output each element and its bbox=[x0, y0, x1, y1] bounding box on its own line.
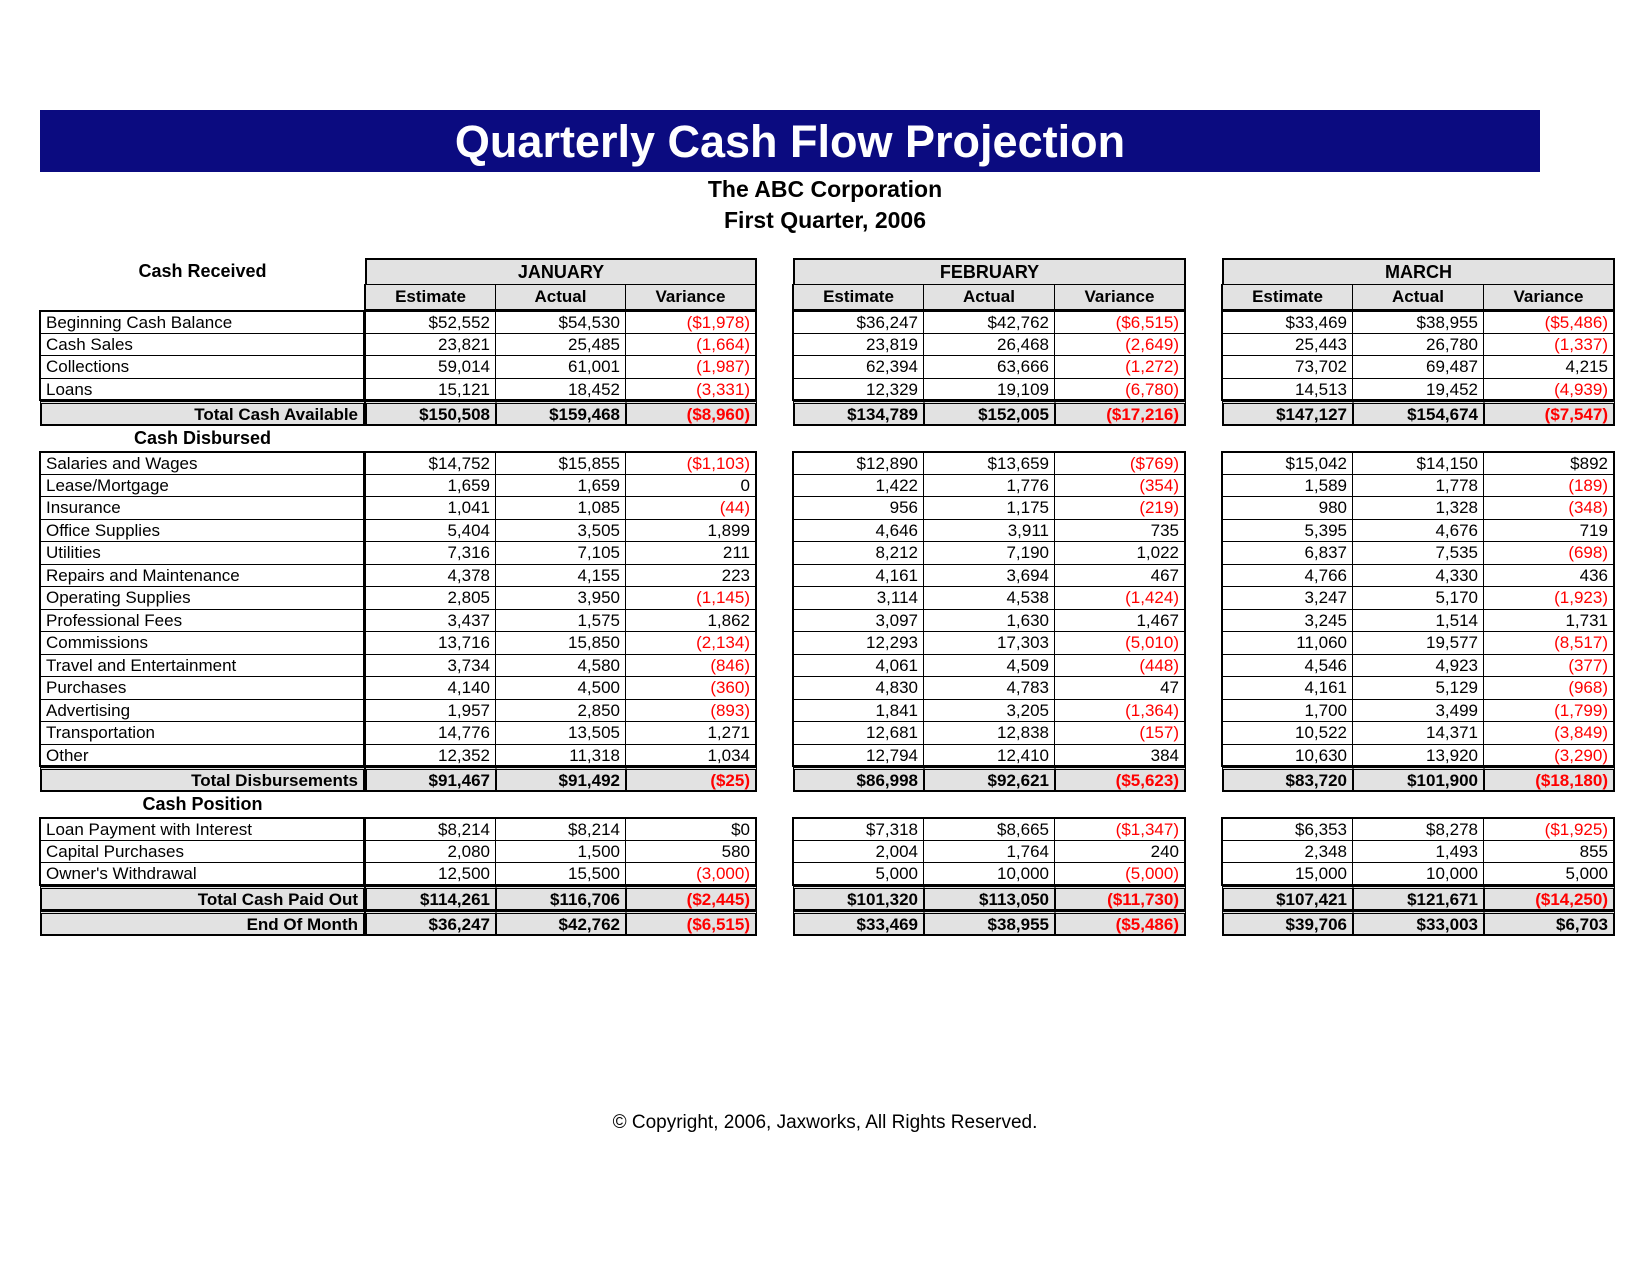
cell-value: $8,214 bbox=[495, 817, 626, 841]
cell-value: 12,352 bbox=[364, 744, 496, 768]
cell-value: (1,272) bbox=[1054, 355, 1186, 379]
cell-value: 19,577 bbox=[1352, 631, 1484, 655]
end-of-month-value: $38,955 bbox=[924, 911, 1055, 936]
end-of-month-value: $39,706 bbox=[1222, 911, 1353, 936]
row-label-spacer bbox=[40, 285, 365, 311]
row-label: Loans bbox=[39, 378, 365, 402]
cell-value: 4,646 bbox=[792, 519, 924, 543]
section-gap bbox=[496, 426, 626, 452]
cell-value: 384 bbox=[1054, 744, 1186, 768]
cell-value: 735 bbox=[1054, 519, 1186, 543]
cell-value: 7,316 bbox=[364, 541, 496, 565]
cell-value: (1,664) bbox=[625, 333, 757, 357]
cell-value: 17,303 bbox=[923, 631, 1055, 655]
total-cash-available-value: ($17,216) bbox=[1055, 401, 1186, 426]
month-gap-r-0 bbox=[757, 722, 793, 745]
section-gap bbox=[924, 792, 1055, 818]
row-label: Office Supplies bbox=[39, 519, 365, 543]
month-gap-r-1 bbox=[1186, 818, 1222, 841]
section-gap bbox=[1222, 792, 1353, 818]
cell-value: (1,923) bbox=[1483, 586, 1615, 610]
cell-value: 12,681 bbox=[792, 721, 924, 745]
cell-value: 5,404 bbox=[364, 519, 496, 543]
cell-value: 4,766 bbox=[1221, 564, 1353, 588]
section-gap bbox=[1055, 426, 1186, 452]
month-gap-r-1 bbox=[1186, 745, 1222, 768]
cell-value: (4,939) bbox=[1483, 378, 1615, 402]
month-gap-r-0 bbox=[757, 379, 793, 402]
month-gap-t-1 bbox=[1186, 767, 1222, 792]
cell-value: (157) bbox=[1054, 721, 1186, 745]
total-cash-paid-out-value: ($14,250) bbox=[1484, 886, 1615, 911]
cell-value: 14,776 bbox=[364, 721, 496, 745]
row-label: Transportation bbox=[39, 721, 365, 745]
total-cash-available-value: ($8,960) bbox=[626, 401, 757, 426]
total-cash-available-value: $134,789 bbox=[793, 401, 924, 426]
cell-value: (348) bbox=[1483, 496, 1615, 520]
end-of-month-value: $33,469 bbox=[793, 911, 924, 936]
col-header-march-estimate: Estimate bbox=[1221, 284, 1353, 310]
cell-value: 12,293 bbox=[792, 631, 924, 655]
cell-value: 2,004 bbox=[792, 840, 924, 864]
cell-value: 4,783 bbox=[923, 676, 1055, 700]
cell-value: 3,437 bbox=[364, 609, 496, 633]
month-gap-r-1 bbox=[1186, 379, 1222, 402]
cell-value: 956 bbox=[792, 496, 924, 520]
cell-value: 1,422 bbox=[792, 474, 924, 498]
cell-value: 1,957 bbox=[364, 699, 496, 723]
row-label: Capital Purchases bbox=[39, 840, 365, 864]
cell-value: 3,734 bbox=[364, 654, 496, 678]
cell-value: 23,819 bbox=[792, 333, 924, 357]
cell-value: (3,000) bbox=[625, 862, 757, 886]
month-gap-r-1 bbox=[1186, 587, 1222, 610]
cell-value: 1,271 bbox=[625, 721, 757, 745]
cell-value: $54,530 bbox=[495, 310, 626, 334]
cell-value: 1,841 bbox=[792, 699, 924, 723]
total-disbursements-value: ($25) bbox=[626, 767, 757, 792]
cell-value: (5,000) bbox=[1054, 862, 1186, 886]
cell-value: 2,805 bbox=[364, 586, 496, 610]
row-label: Insurance bbox=[39, 496, 365, 520]
section-gap bbox=[1353, 426, 1484, 452]
month-header-january: JANUARY bbox=[365, 258, 757, 285]
cell-value: $8,278 bbox=[1352, 817, 1484, 841]
cell-value: (1,337) bbox=[1483, 333, 1615, 357]
month-gap-r-1 bbox=[1186, 722, 1222, 745]
total-cash-paid-out-label: Total Cash Paid Out bbox=[40, 886, 365, 911]
cell-value: 3,247 bbox=[1221, 586, 1353, 610]
end-of-month-value: $6,703 bbox=[1484, 911, 1615, 936]
section-gap bbox=[793, 792, 924, 818]
month-gap-r-1 bbox=[1186, 475, 1222, 498]
cell-value: ($1,103) bbox=[625, 451, 757, 475]
cell-value: $38,955 bbox=[1352, 310, 1484, 334]
cell-value: 1,175 bbox=[923, 496, 1055, 520]
cell-value: 980 bbox=[1221, 496, 1353, 520]
cell-value: $52,552 bbox=[364, 310, 496, 334]
cell-value: 4,378 bbox=[364, 564, 496, 588]
cell-value: 855 bbox=[1483, 840, 1615, 864]
month-gap-r-1 bbox=[1186, 311, 1222, 334]
cell-value: 4,061 bbox=[792, 654, 924, 678]
cell-value: 4,161 bbox=[792, 564, 924, 588]
cell-value: 12,838 bbox=[923, 721, 1055, 745]
month-gap-r-0 bbox=[757, 587, 793, 610]
cell-value: 3,911 bbox=[923, 519, 1055, 543]
cell-value: 26,468 bbox=[923, 333, 1055, 357]
cell-value: 7,190 bbox=[923, 541, 1055, 565]
cell-value: (968) bbox=[1483, 676, 1615, 700]
end-of-month-label: End Of Month bbox=[40, 911, 365, 936]
month-gap-t-0 bbox=[757, 911, 793, 936]
month-gap-r-1 bbox=[1186, 565, 1222, 588]
cell-value: 436 bbox=[1483, 564, 1615, 588]
cell-value: 3,499 bbox=[1352, 699, 1484, 723]
end-of-month-value: ($6,515) bbox=[626, 911, 757, 936]
month-gap-r-0 bbox=[757, 452, 793, 475]
cell-value: $6,353 bbox=[1221, 817, 1353, 841]
report-period: First Quarter, 2006 bbox=[0, 207, 1650, 234]
row-label: Lease/Mortgage bbox=[39, 474, 365, 498]
cell-value: 26,780 bbox=[1352, 333, 1484, 357]
cell-value: ($6,515) bbox=[1054, 310, 1186, 334]
cell-value: ($769) bbox=[1054, 451, 1186, 475]
row-label: Other bbox=[39, 744, 365, 768]
end-of-month-value: ($5,486) bbox=[1055, 911, 1186, 936]
cell-value: 12,500 bbox=[364, 862, 496, 886]
section-title-cash-position: Cash Position bbox=[40, 792, 365, 818]
cell-value: $14,150 bbox=[1352, 451, 1484, 475]
cell-value: 4,161 bbox=[1221, 676, 1353, 700]
total-cash-paid-out-value: $107,421 bbox=[1222, 886, 1353, 911]
cell-value: ($1,925) bbox=[1483, 817, 1615, 841]
cell-value: 1,764 bbox=[923, 840, 1055, 864]
month-gap-r-0 bbox=[757, 655, 793, 678]
cell-value: $33,469 bbox=[1221, 310, 1353, 334]
end-of-month-value: $36,247 bbox=[365, 911, 496, 936]
section-gap bbox=[1186, 792, 1222, 818]
cell-value: 211 bbox=[625, 541, 757, 565]
cell-value: 240 bbox=[1054, 840, 1186, 864]
cell-value: (1,145) bbox=[625, 586, 757, 610]
month-gap-0 bbox=[757, 258, 793, 285]
total-cash-available-value: $154,674 bbox=[1353, 401, 1484, 426]
section-gap bbox=[757, 792, 793, 818]
spreadsheet-table: Cash ReceivedJANUARYFEBRUARYMARCHEstimat… bbox=[40, 258, 1540, 936]
cell-value: (846) bbox=[625, 654, 757, 678]
company-name: The ABC Corporation bbox=[0, 176, 1650, 203]
col-header-february-estimate: Estimate bbox=[792, 284, 924, 310]
month-gap-r-1 bbox=[1186, 863, 1222, 886]
cell-value: 4,546 bbox=[1221, 654, 1353, 678]
row-label: Operating Supplies bbox=[39, 586, 365, 610]
month-gap-r-1 bbox=[1186, 655, 1222, 678]
cell-value: 1,328 bbox=[1352, 496, 1484, 520]
month-gap-r-0 bbox=[757, 610, 793, 633]
cell-value: 4,923 bbox=[1352, 654, 1484, 678]
cell-value: 8,212 bbox=[792, 541, 924, 565]
cell-value: 1,085 bbox=[495, 496, 626, 520]
cell-value: 1,700 bbox=[1221, 699, 1353, 723]
cell-value: 719 bbox=[1483, 519, 1615, 543]
cell-value: 63,666 bbox=[923, 355, 1055, 379]
month-gap-r-1 bbox=[1186, 542, 1222, 565]
cell-value: 69,487 bbox=[1352, 355, 1484, 379]
month-gap-t-1 bbox=[1186, 911, 1222, 936]
cell-value: 62,394 bbox=[792, 355, 924, 379]
total-disbursements-value: ($5,623) bbox=[1055, 767, 1186, 792]
cell-value: 0 bbox=[625, 474, 757, 498]
worksheet-grid: Cash ReceivedJANUARYFEBRUARYMARCHEstimat… bbox=[40, 258, 1540, 936]
cell-value: (1,364) bbox=[1054, 699, 1186, 723]
cell-value: 12,794 bbox=[792, 744, 924, 768]
cell-value: 5,395 bbox=[1221, 519, 1353, 543]
section-gap bbox=[626, 792, 757, 818]
cell-value: 13,716 bbox=[364, 631, 496, 655]
cell-value: ($1,347) bbox=[1054, 817, 1186, 841]
cell-value: (1,799) bbox=[1483, 699, 1615, 723]
section-gap bbox=[496, 792, 626, 818]
cell-value: 1,776 bbox=[923, 474, 1055, 498]
month-gap-r-1 bbox=[1186, 497, 1222, 520]
cell-value: 3,950 bbox=[495, 586, 626, 610]
month-gap-r-0 bbox=[757, 818, 793, 841]
cell-value: 73,702 bbox=[1221, 355, 1353, 379]
cell-value: 5,170 bbox=[1352, 586, 1484, 610]
cell-value: 1,493 bbox=[1352, 840, 1484, 864]
cell-value: 3,505 bbox=[495, 519, 626, 543]
cell-value: 2,850 bbox=[495, 699, 626, 723]
cell-value: 1,589 bbox=[1221, 474, 1353, 498]
cell-value: 23,821 bbox=[364, 333, 496, 357]
cell-value: 61,001 bbox=[495, 355, 626, 379]
cell-value: 4,140 bbox=[364, 676, 496, 700]
cell-value: 3,245 bbox=[1221, 609, 1353, 633]
cell-value: (6,780) bbox=[1054, 378, 1186, 402]
cell-value: 13,505 bbox=[495, 721, 626, 745]
cell-value: 59,014 bbox=[364, 355, 496, 379]
section-gap bbox=[757, 426, 793, 452]
month-gap-r-0 bbox=[757, 475, 793, 498]
section-title-cash-disbursed: Cash Disbursed bbox=[40, 426, 365, 452]
cell-value: 3,114 bbox=[792, 586, 924, 610]
total-disbursements-value: $83,720 bbox=[1222, 767, 1353, 792]
total-cash-paid-out-value: $113,050 bbox=[924, 886, 1055, 911]
row-label: Utilities bbox=[39, 541, 365, 565]
total-cash-paid-out-value: $116,706 bbox=[496, 886, 626, 911]
total-disbursements-label: Total Disbursements bbox=[40, 767, 365, 792]
cell-value: (3,290) bbox=[1483, 744, 1615, 768]
cell-value: (1,987) bbox=[625, 355, 757, 379]
month-header-february: FEBRUARY bbox=[793, 258, 1186, 285]
cell-value: 25,485 bbox=[495, 333, 626, 357]
row-label: Cash Sales bbox=[39, 333, 365, 357]
cell-value: 15,850 bbox=[495, 631, 626, 655]
section-gap bbox=[924, 426, 1055, 452]
month-gap-r-0 bbox=[757, 356, 793, 379]
cell-value: 1,034 bbox=[625, 744, 757, 768]
section-title-cash-received: Cash Received bbox=[40, 259, 365, 285]
cell-value: 14,371 bbox=[1352, 721, 1484, 745]
cell-value: 1,731 bbox=[1483, 609, 1615, 633]
cell-value: 5,000 bbox=[1483, 862, 1615, 886]
cell-value: 10,630 bbox=[1221, 744, 1353, 768]
cell-value: 1,500 bbox=[495, 840, 626, 864]
cell-value: 10,000 bbox=[1352, 862, 1484, 886]
title-banner: Quarterly Cash Flow Projection bbox=[40, 110, 1540, 172]
cell-value: 12,410 bbox=[923, 744, 1055, 768]
cell-value: 25,443 bbox=[1221, 333, 1353, 357]
cell-value: (44) bbox=[625, 496, 757, 520]
total-cash-paid-out-value: ($2,445) bbox=[626, 886, 757, 911]
row-label: Advertising bbox=[39, 699, 365, 723]
cell-value: (893) bbox=[625, 699, 757, 723]
cell-value: 4,215 bbox=[1483, 355, 1615, 379]
cell-value: ($5,486) bbox=[1483, 310, 1615, 334]
month-gap-r-0 bbox=[757, 542, 793, 565]
cell-value: (3,331) bbox=[625, 378, 757, 402]
cell-value: $12,890 bbox=[792, 451, 924, 475]
cell-value: 3,205 bbox=[923, 699, 1055, 723]
copyright-footer: © Copyright, 2006, Jaxworks, All Rights … bbox=[0, 1112, 1650, 1134]
cell-value: (8,517) bbox=[1483, 631, 1615, 655]
cell-value: 15,000 bbox=[1221, 862, 1353, 886]
total-cash-paid-out-value: $121,671 bbox=[1353, 886, 1484, 911]
total-cash-available-label: Total Cash Available bbox=[40, 401, 365, 426]
month-gap-t-1 bbox=[1186, 886, 1222, 911]
cell-value: 1,659 bbox=[495, 474, 626, 498]
col-header-january-actual: Actual bbox=[495, 284, 626, 310]
page-title: Quarterly Cash Flow Projection bbox=[455, 119, 1125, 164]
month-gap-h-0 bbox=[757, 285, 793, 311]
cell-value: 1,862 bbox=[625, 609, 757, 633]
row-label: Beginning Cash Balance bbox=[39, 310, 365, 334]
cell-value: 15,500 bbox=[495, 862, 626, 886]
month-gap-r-1 bbox=[1186, 356, 1222, 379]
end-of-month-value: $42,762 bbox=[496, 911, 626, 936]
month-gap-r-1 bbox=[1186, 452, 1222, 475]
cell-value: 3,694 bbox=[923, 564, 1055, 588]
total-disbursements-value: ($18,180) bbox=[1484, 767, 1615, 792]
row-label: Loan Payment with Interest bbox=[39, 817, 365, 841]
cell-value: 1,899 bbox=[625, 519, 757, 543]
section-gap bbox=[626, 426, 757, 452]
section-gap bbox=[1222, 426, 1353, 452]
month-gap-r-1 bbox=[1186, 677, 1222, 700]
total-cash-paid-out-value: ($11,730) bbox=[1055, 886, 1186, 911]
cell-value: (377) bbox=[1483, 654, 1615, 678]
cell-value: 5,129 bbox=[1352, 676, 1484, 700]
month-gap-r-1 bbox=[1186, 334, 1222, 357]
col-header-march-actual: Actual bbox=[1352, 284, 1484, 310]
section-gap bbox=[1484, 426, 1615, 452]
cell-value: 11,318 bbox=[495, 744, 626, 768]
cell-value: 467 bbox=[1054, 564, 1186, 588]
cell-value: 19,109 bbox=[923, 378, 1055, 402]
month-gap-h-1 bbox=[1186, 285, 1222, 311]
month-gap-1 bbox=[1186, 258, 1222, 285]
section-gap bbox=[793, 426, 924, 452]
cell-value: 4,676 bbox=[1352, 519, 1484, 543]
month-gap-r-0 bbox=[757, 311, 793, 334]
cell-value: (360) bbox=[625, 676, 757, 700]
month-gap-r-1 bbox=[1186, 841, 1222, 864]
month-gap-r-0 bbox=[757, 520, 793, 543]
cell-value: 1,041 bbox=[364, 496, 496, 520]
cell-value: 47 bbox=[1054, 676, 1186, 700]
month-gap-r-0 bbox=[757, 863, 793, 886]
cell-value: $14,752 bbox=[364, 451, 496, 475]
cell-value: 4,500 bbox=[495, 676, 626, 700]
cell-value: 1,022 bbox=[1054, 541, 1186, 565]
cell-value: (1,424) bbox=[1054, 586, 1186, 610]
total-disbursements-value: $92,621 bbox=[924, 767, 1055, 792]
total-cash-available-value: $152,005 bbox=[924, 401, 1055, 426]
end-of-month-value: $33,003 bbox=[1353, 911, 1484, 936]
row-label: Commissions bbox=[39, 631, 365, 655]
cell-value: 19,452 bbox=[1352, 378, 1484, 402]
cell-value: (219) bbox=[1054, 496, 1186, 520]
cell-value: ($1,978) bbox=[625, 310, 757, 334]
col-header-march-variance: Variance bbox=[1483, 284, 1615, 310]
month-gap-r-0 bbox=[757, 632, 793, 655]
cell-value: $13,659 bbox=[923, 451, 1055, 475]
cell-value: 7,105 bbox=[495, 541, 626, 565]
col-header-february-actual: Actual bbox=[923, 284, 1055, 310]
cell-value: (2,649) bbox=[1054, 333, 1186, 357]
cell-value: 10,522 bbox=[1221, 721, 1353, 745]
cell-value: 6,837 bbox=[1221, 541, 1353, 565]
month-gap-r-1 bbox=[1186, 610, 1222, 633]
month-gap-r-1 bbox=[1186, 632, 1222, 655]
total-cash-paid-out-value: $101,320 bbox=[793, 886, 924, 911]
cell-value: 13,920 bbox=[1352, 744, 1484, 768]
total-cash-available-value: ($7,547) bbox=[1484, 401, 1615, 426]
cell-value: (698) bbox=[1483, 541, 1615, 565]
cell-value: 1,778 bbox=[1352, 474, 1484, 498]
cash-flow-worksheet: Quarterly Cash Flow Projection The ABC C… bbox=[0, 0, 1650, 1275]
cell-value: $42,762 bbox=[923, 310, 1055, 334]
row-label: Purchases bbox=[39, 676, 365, 700]
col-header-january-estimate: Estimate bbox=[364, 284, 496, 310]
cell-value: 18,452 bbox=[495, 378, 626, 402]
cell-value: $0 bbox=[625, 817, 757, 841]
cell-value: 1,514 bbox=[1352, 609, 1484, 633]
cell-value: (189) bbox=[1483, 474, 1615, 498]
cell-value: 4,538 bbox=[923, 586, 1055, 610]
cell-value: (3,849) bbox=[1483, 721, 1615, 745]
total-cash-paid-out-value: $114,261 bbox=[365, 886, 496, 911]
cell-value: $36,247 bbox=[792, 310, 924, 334]
section-gap bbox=[365, 426, 496, 452]
month-gap-t-0 bbox=[757, 886, 793, 911]
cell-value: 1,467 bbox=[1054, 609, 1186, 633]
month-gap-r-1 bbox=[1186, 700, 1222, 723]
month-gap-t-0 bbox=[757, 767, 793, 792]
cell-value: $15,855 bbox=[495, 451, 626, 475]
cell-value: $892 bbox=[1483, 451, 1615, 475]
cell-value: 4,580 bbox=[495, 654, 626, 678]
month-gap-t-0 bbox=[757, 401, 793, 426]
row-label: Professional Fees bbox=[39, 609, 365, 633]
cell-value: 580 bbox=[625, 840, 757, 864]
row-label: Repairs and Maintenance bbox=[39, 564, 365, 588]
cell-value: 10,000 bbox=[923, 862, 1055, 886]
month-gap-t-1 bbox=[1186, 401, 1222, 426]
cell-value: $7,318 bbox=[792, 817, 924, 841]
total-disbursements-value: $91,467 bbox=[365, 767, 496, 792]
